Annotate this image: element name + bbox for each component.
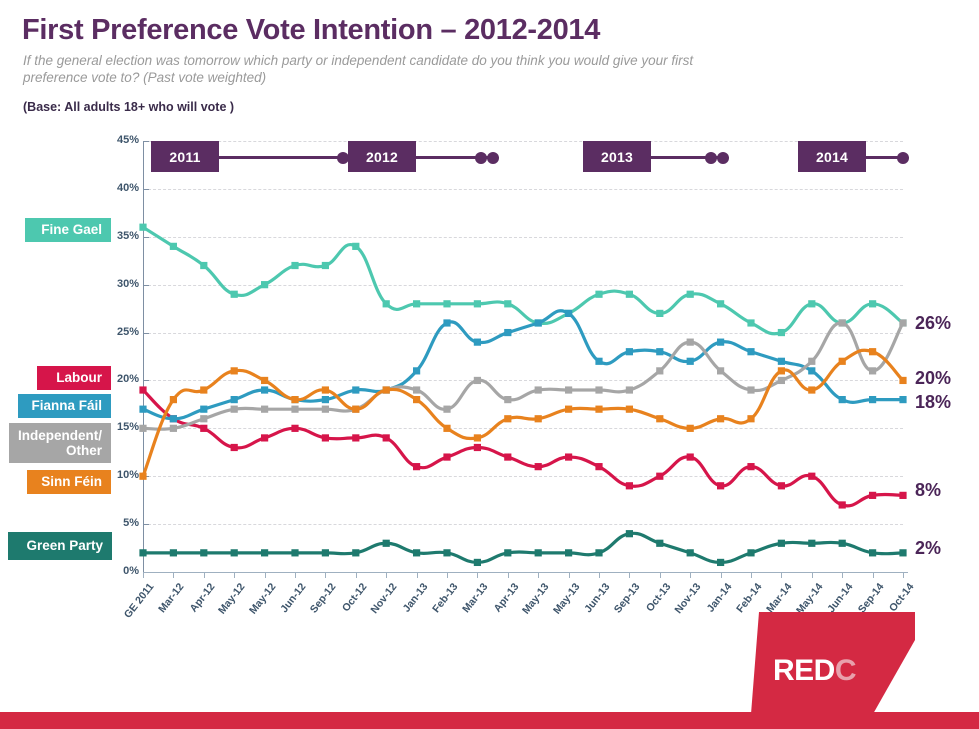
series-independent-other [139,319,906,432]
data-point-marker [504,396,511,403]
y-tick-label: 0% [99,565,139,577]
data-point-marker [839,540,846,547]
data-point-marker [291,396,298,403]
gridline [143,285,903,286]
data-point-marker [231,549,238,556]
data-point-marker [595,358,602,365]
data-point-marker [383,434,390,441]
data-point-marker [443,406,450,413]
data-point-marker [261,549,268,556]
gridline [143,476,903,477]
x-tick-mark [599,572,600,578]
year-endpoint-dot [897,152,909,164]
x-tick-mark [751,572,752,578]
data-point-marker [170,415,177,422]
legend-item-independent-other[interactable]: Independent/ Other [9,423,111,463]
data-point-marker [535,549,542,556]
x-tick-mark [386,572,387,578]
x-tick-label: Oct-13 [644,581,674,614]
data-point-marker [656,367,663,374]
x-tick-mark [538,572,539,578]
data-point-marker [595,386,602,393]
data-point-marker [535,386,542,393]
data-point-marker [535,319,542,326]
data-point-marker [839,319,846,326]
x-tick-label: May-13 [551,581,582,616]
series-sinn-f-in [139,348,906,480]
data-point-marker [261,406,268,413]
year-endpoint-dot [487,152,499,164]
x-tick-mark [417,572,418,578]
x-tick-label: Sep-14 [855,581,886,616]
data-point-marker [443,319,450,326]
x-tick-label: Nov-13 [673,581,704,616]
data-point-marker [839,501,846,508]
x-tick-label: Oct-12 [340,581,370,614]
data-point-marker [231,444,238,451]
x-tick-label: Jan-14 [704,581,734,615]
x-tick-label: Jan-13 [400,581,430,615]
data-point-marker [352,406,359,413]
data-point-marker [474,444,481,451]
data-point-marker [291,396,298,403]
data-point-marker [747,348,754,355]
series-fine-gael [139,224,906,337]
data-point-marker [504,549,511,556]
data-point-marker [565,310,572,317]
data-point-marker [565,453,572,460]
data-point-marker [474,300,481,307]
data-point-marker [200,415,207,422]
data-point-marker [474,559,481,566]
x-tick-label: May-12 [247,581,278,616]
data-point-marker [687,453,694,460]
data-point-marker [413,300,420,307]
data-point-marker [839,358,846,365]
data-point-marker [869,549,876,556]
data-point-marker [808,540,815,547]
y-axis-labels: 0%5%10%15%20%25%30%35%40%45% [95,0,139,729]
data-point-marker [231,406,238,413]
data-point-marker [322,386,329,393]
data-point-marker [687,339,694,346]
x-tick-label: Oct-14 [887,581,917,614]
x-tick-label: Jun-14 [825,581,855,615]
data-point-marker [626,291,633,298]
x-tick-mark [873,572,874,578]
data-point-marker [656,540,663,547]
x-tick-label: Sep-13 [612,581,643,616]
data-point-marker [261,386,268,393]
data-point-marker [717,415,724,422]
x-tick-mark [173,572,174,578]
data-point-marker [413,386,420,393]
data-point-marker [626,406,633,413]
y-tick-label: 5% [99,517,139,529]
data-point-marker [504,453,511,460]
data-point-marker [717,339,724,346]
logo-text-main: RED [773,654,835,687]
x-tick-label: Apr-12 [187,581,217,615]
data-point-marker [231,367,238,374]
data-point-marker [322,549,329,556]
data-point-marker [352,434,359,441]
data-point-marker [899,549,906,556]
data-point-marker [352,406,359,413]
end-label-independent-other: 26% [915,313,951,334]
data-point-marker [839,396,846,403]
data-point-marker [413,367,420,374]
data-point-marker [717,300,724,307]
gridline [143,333,903,334]
end-label-sinn-f-in: 20% [915,368,951,389]
data-point-marker [626,348,633,355]
year-endpoint-dot [717,152,729,164]
gridline [143,428,903,429]
x-tick-mark [204,572,205,578]
x-tick-label: Mar-12 [157,581,187,615]
x-tick-label: May-13 [520,581,551,616]
end-label-labour: 8% [915,480,941,501]
x-tick-mark [325,572,326,578]
data-point-marker [322,262,329,269]
x-tick-mark [143,572,144,578]
data-point-marker [383,386,390,393]
data-point-marker [170,396,177,403]
x-tick-mark [356,572,357,578]
series-line [143,311,903,419]
data-point-marker [595,549,602,556]
data-point-marker [656,415,663,422]
gridline [143,524,903,525]
series-line [143,323,903,429]
x-tick-mark [295,572,296,578]
data-point-marker [504,300,511,307]
data-point-marker [474,339,481,346]
data-point-marker [656,310,663,317]
data-point-marker [747,386,754,393]
data-point-marker [869,300,876,307]
x-tick-label: Feb-14 [734,581,764,615]
data-point-marker [170,243,177,250]
x-tick-label: Jun-13 [582,581,612,615]
slide-canvas: First Preference Vote Intention – 2012-2… [0,0,979,729]
data-point-marker [899,319,906,326]
x-tick-label: Jun-12 [278,581,308,615]
data-point-marker [383,300,390,307]
x-tick-mark [842,572,843,578]
series-line [143,390,903,506]
year-connector-line [219,156,343,159]
x-tick-mark [508,572,509,578]
data-point-marker [565,386,572,393]
year-marker-2013: 2013 [583,141,651,172]
gridline [143,189,903,190]
data-point-marker [839,319,846,326]
x-axis-line [143,572,908,573]
bottom-accent-bar [0,712,979,729]
data-point-marker [778,540,785,547]
logo-text: REDC [773,654,856,688]
data-point-marker [899,396,906,403]
x-tick-label: Mar-14 [765,581,795,615]
data-point-marker [565,310,572,317]
data-point-marker [808,358,815,365]
data-point-marker [899,319,906,326]
data-point-marker [535,415,542,422]
data-point-marker [717,559,724,566]
data-point-marker [322,396,329,403]
data-point-marker [778,358,785,365]
legend-item-fianna-f-il[interactable]: Fianna Fáil [18,394,111,418]
legend-item-labour[interactable]: Labour [37,366,111,390]
data-point-marker [170,549,177,556]
x-tick-mark [781,572,782,578]
data-point-marker [200,386,207,393]
data-point-marker [717,482,724,489]
data-point-marker [595,291,602,298]
data-point-marker [474,434,481,441]
data-point-marker [565,549,572,556]
data-point-marker [200,262,207,269]
x-tick-label: Feb-13 [430,581,460,615]
data-point-marker [231,291,238,298]
data-point-marker [626,482,633,489]
series-line [143,350,903,476]
data-point-marker [322,406,329,413]
x-tick-mark [265,572,266,578]
year-marker-2012: 2012 [348,141,416,172]
year-endpoint-dot [705,152,717,164]
data-point-marker [869,348,876,355]
data-point-marker [747,549,754,556]
x-tick-mark [234,572,235,578]
series-line [143,533,903,562]
data-point-marker [413,463,420,470]
x-tick-mark [569,572,570,578]
x-tick-mark [660,572,661,578]
logo-text-accent: C [835,654,856,687]
data-point-marker [778,482,785,489]
data-point-marker [443,549,450,556]
y-tick-label: 40% [99,182,139,194]
data-point-marker [626,386,633,393]
data-point-marker [747,319,754,326]
legend-item-sinn-f-in[interactable]: Sinn Féin [27,470,111,494]
series-fianna-f-il [139,310,906,423]
data-point-marker [291,549,298,556]
data-point-marker [443,300,450,307]
x-tick-mark [629,572,630,578]
data-point-marker [899,492,906,499]
x-tick-label: May-12 [216,581,247,616]
y-tick-label: 45% [99,134,139,146]
data-point-marker [352,549,359,556]
x-tick-mark [477,572,478,578]
data-point-marker [595,406,602,413]
year-timeline: 2011201220132014 [143,141,908,173]
data-point-marker [595,463,602,470]
data-point-marker [778,367,785,374]
data-point-marker [352,386,359,393]
data-point-marker [200,406,207,413]
year-endpoint-dot [475,152,487,164]
data-point-marker [869,396,876,403]
data-point-marker [291,406,298,413]
series-green-party [139,530,906,566]
redc-logo: REDC [745,612,915,714]
data-point-marker [808,386,815,393]
data-point-marker [535,319,542,326]
data-point-marker [231,396,238,403]
end-label-green-party: 2% [915,538,941,559]
x-tick-mark [690,572,691,578]
data-point-marker [322,434,329,441]
x-tick-label: Sep-12 [308,581,339,616]
data-point-marker [687,358,694,365]
data-point-marker [504,415,511,422]
x-tick-mark [721,572,722,578]
data-point-marker [535,463,542,470]
data-point-marker [443,453,450,460]
x-tick-label: Nov-12 [369,581,400,616]
year-endpoint-dot [337,152,349,164]
data-point-marker [383,386,390,393]
x-tick-label: Apr-13 [491,581,521,615]
x-tick-mark [447,572,448,578]
data-point-marker [869,367,876,374]
x-tick-mark [812,572,813,578]
y-tick-label: 30% [99,278,139,290]
data-point-marker [170,415,177,422]
series-line [143,227,903,334]
year-marker-2011: 2011 [151,141,219,172]
data-point-marker [383,386,390,393]
data-point-marker [200,549,207,556]
data-point-marker [869,492,876,499]
data-point-marker [656,348,663,355]
gridline [143,237,903,238]
data-point-marker [413,549,420,556]
y-axis-line [143,141,144,572]
year-marker-2014: 2014 [798,141,866,172]
data-point-marker [687,549,694,556]
data-point-marker [413,396,420,403]
x-tick-mark [903,572,904,578]
data-point-marker [565,406,572,413]
data-point-marker [717,367,724,374]
data-point-marker [261,434,268,441]
data-point-marker [383,540,390,547]
data-point-marker [747,463,754,470]
data-point-marker [747,415,754,422]
series-labour [139,386,906,508]
legend-item-fine-gael[interactable]: Fine Gael [25,218,111,242]
data-point-marker [808,367,815,374]
x-tick-label: Mar-13 [461,581,491,615]
data-point-marker [626,530,633,537]
y-tick-label: 25% [99,326,139,338]
legend-item-green-party[interactable]: Green Party [8,532,112,560]
data-point-marker [808,300,815,307]
end-label-fianna-f-il: 18% [915,392,951,413]
data-point-marker [687,291,694,298]
data-point-marker [291,262,298,269]
gridline [143,380,903,381]
data-point-marker [352,243,359,250]
